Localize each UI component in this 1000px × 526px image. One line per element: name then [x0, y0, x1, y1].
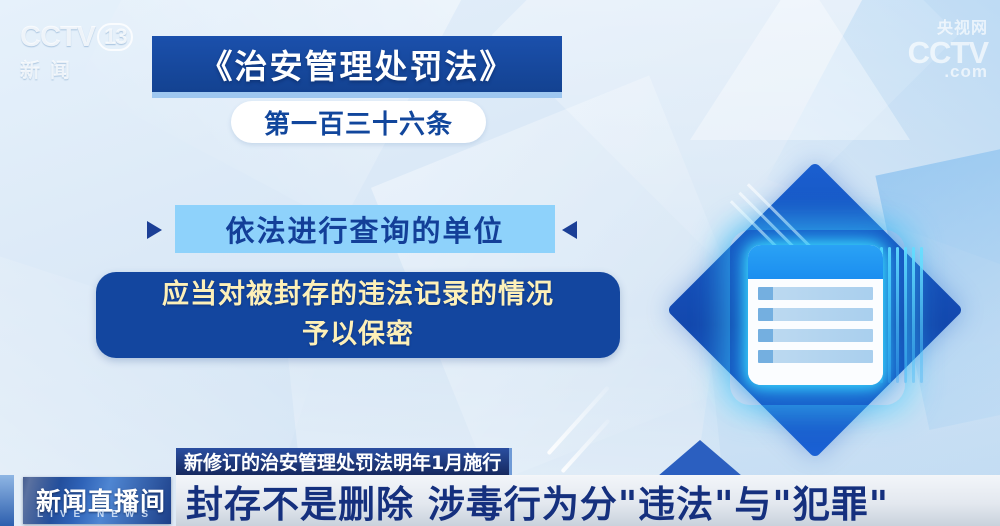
- triangle-left-icon: [562, 221, 577, 239]
- kicker-text: 新修订的治安管理处罚法明年1月施行: [184, 448, 501, 475]
- law-title-bar: 《治安管理处罚法》: [152, 36, 562, 98]
- cctv13-logo-subtitle: 新闻: [20, 54, 140, 83]
- headline-banner: 封存不是删除 涉毒行为分"违法"与"犯罪": [176, 475, 1000, 526]
- document-icon-line: [758, 308, 873, 321]
- program-logo: 新闻直播间 LIVE NEWS: [23, 477, 171, 524]
- clause-subject-box: 依法进行查询的单位: [175, 205, 555, 253]
- article-number-pill: 第一百三十六条: [231, 101, 486, 143]
- lower-third-left-strip: [0, 475, 14, 526]
- triangle-right-icon: [147, 221, 162, 239]
- document-lines-icon: [748, 245, 883, 385]
- document-icon-header: [748, 245, 883, 279]
- program-logo-en-text: LIVE NEWS: [37, 509, 155, 520]
- document-icon-line: [758, 350, 873, 363]
- cctv13-logo: CCTV13 新闻: [20, 22, 140, 82]
- bg-streak-1: [547, 386, 610, 456]
- headline-text: 封存不是删除 涉毒行为分"违法"与"犯罪": [186, 474, 889, 526]
- cctv13-logo-mark: CCTV13: [20, 22, 140, 52]
- bg-wedge-light: [690, 0, 910, 140]
- clause-subject-text: 依法进行查询的单位: [225, 208, 504, 250]
- law-title-text: 《治安管理处罚法》: [200, 40, 515, 88]
- clause-predicate-line-2: 予以保密: [302, 315, 414, 355]
- broadcast-frame: CCTV13 新闻 央视网 CCTV .com: [0, 0, 1000, 526]
- cctv13-logo-text: CCTV: [20, 21, 95, 53]
- document-icon-line: [758, 329, 873, 342]
- cctv13-logo-number: 13: [97, 23, 133, 51]
- clause-predicate-line-1: 应当对被封存的违法记录的情况: [162, 275, 554, 315]
- document-icon-line: [758, 287, 873, 300]
- cctv-com-watermark: 央视网 CCTV .com: [908, 14, 988, 82]
- clause-predicate-box: 应当对被封存的违法记录的情况 予以保密: [96, 272, 620, 358]
- document-stack-edges: [876, 247, 936, 383]
- document-icon-body: [748, 279, 883, 385]
- kicker-banner: 新修订的治安管理处罚法明年1月施行: [176, 448, 512, 475]
- document-graphic: [690, 185, 970, 465]
- article-number-text: 第一百三十六条: [264, 104, 453, 141]
